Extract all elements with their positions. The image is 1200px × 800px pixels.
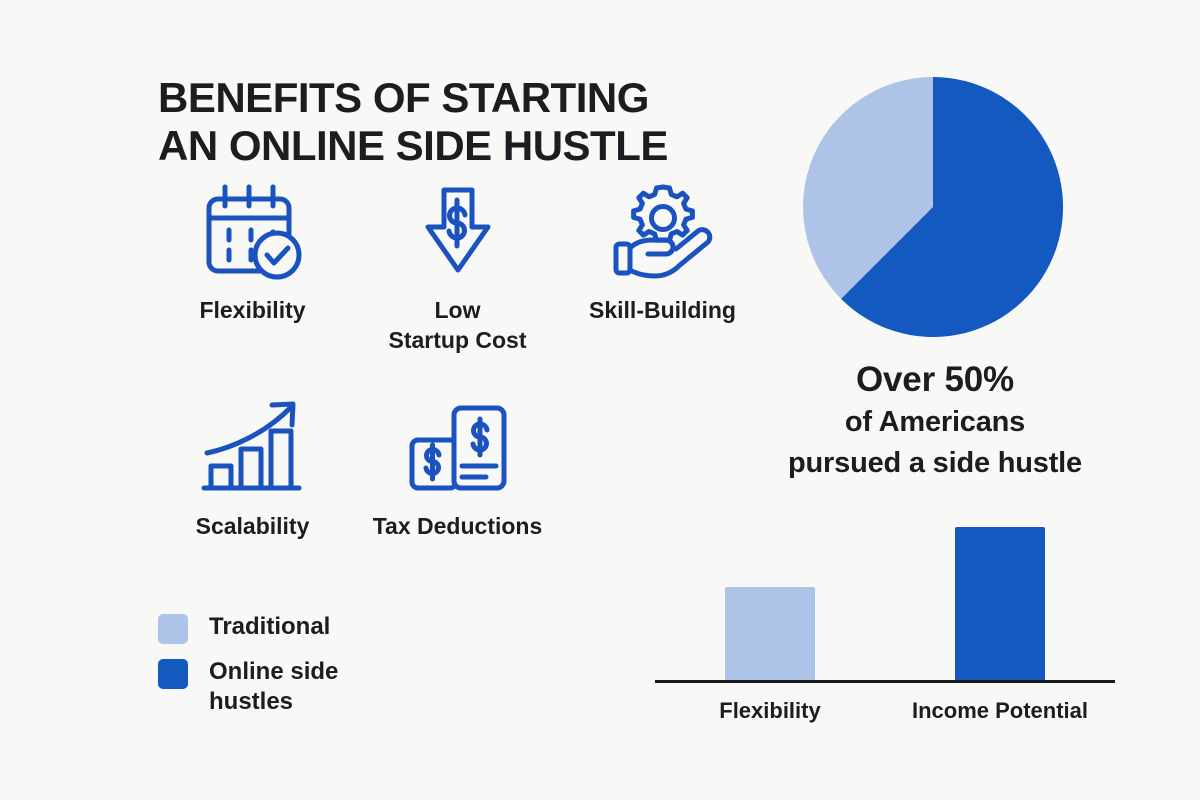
bar-chart-baseline [655, 680, 1115, 683]
benefit-item-low-startup-cost: Low Startup Cost [355, 180, 560, 356]
legend-label: Traditional [209, 612, 330, 642]
legend-swatch-online-side-hustles [158, 659, 188, 689]
bar-label-income-potential: Income Potential [885, 698, 1115, 724]
benefits-grid: Flexibility Low Startup Cost [150, 180, 770, 542]
benefit-label: Scalability [196, 512, 310, 542]
infographic-canvas: BENEFITS OF STARTING AN ONLINE SIDE HUST… [0, 0, 1200, 800]
pie-chart [803, 77, 1063, 337]
benefit-item-skill-building: Skill-Building [560, 180, 765, 326]
benefit-label: Skill-Building [589, 296, 736, 326]
bar-label-flexibility: Flexibility [655, 698, 885, 724]
benefit-label: Tax Deductions [373, 512, 543, 542]
benefit-item-scalability: Scalability [150, 396, 355, 542]
benefit-label: Low Startup Cost [389, 296, 527, 356]
page-title-line-2: AN ONLINE SIDE HUSTLE [158, 122, 758, 170]
bar-slot-income-potential [885, 515, 1115, 681]
legend-item-online-side-hustles: Online side hustles [158, 657, 338, 717]
stat-line-3: pursued a side hustle [700, 443, 1170, 484]
growth-bars-arrow-icon [199, 396, 307, 500]
benefits-row-1: Flexibility Low Startup Cost [150, 180, 770, 356]
stat-callout: Over 50% of Americans pursued a side hus… [700, 358, 1170, 484]
legend-item-traditional: Traditional [158, 612, 338, 644]
page-title: BENEFITS OF STARTING AN ONLINE SIDE HUST… [158, 74, 758, 170]
bar-slot-flexibility [655, 515, 885, 681]
bar-chart: Flexibility Income Potential [655, 515, 1115, 735]
dollar-documents-icon [406, 396, 510, 500]
bar-income-potential [955, 527, 1045, 681]
bar-chart-bars [655, 515, 1115, 681]
benefit-label: Flexibility [199, 296, 305, 326]
page-title-line-1: BENEFITS OF STARTING [158, 74, 758, 122]
legend-label: Online side hustles [209, 657, 338, 717]
bar-flexibility [725, 587, 815, 681]
calendar-check-icon [201, 180, 305, 284]
chart-legend: Traditional Online side hustles [158, 612, 338, 730]
legend-swatch-traditional [158, 614, 188, 644]
benefit-item-tax-deductions: Tax Deductions [355, 396, 560, 542]
benefit-item-flexibility: Flexibility [150, 180, 355, 326]
stat-line-2: of Americans [700, 402, 1170, 443]
gear-in-hand-icon [608, 180, 718, 284]
stat-headline: Over 50% [700, 358, 1170, 402]
bar-chart-labels: Flexibility Income Potential [655, 698, 1115, 724]
down-arrow-dollar-icon [408, 180, 508, 284]
